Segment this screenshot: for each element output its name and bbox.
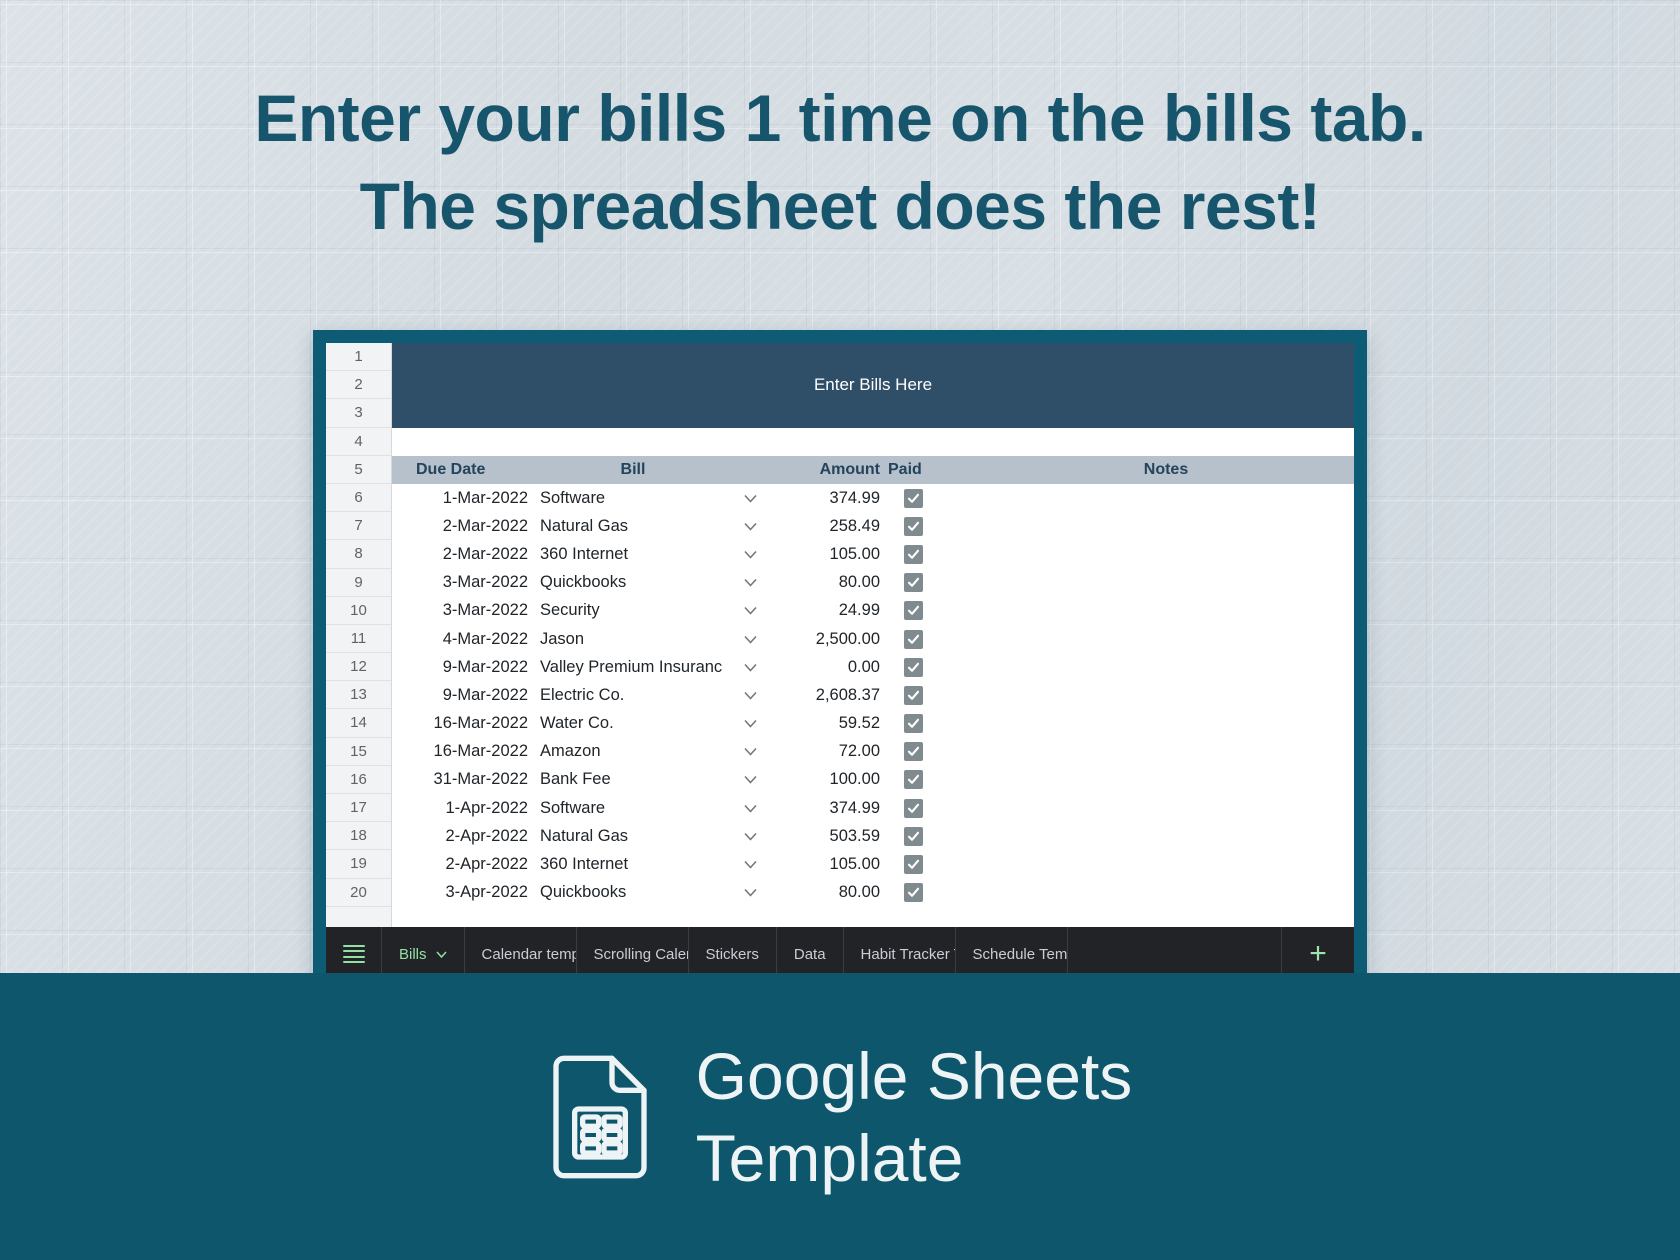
paid-checkbox[interactable] xyxy=(904,517,923,536)
cell-paid[interactable] xyxy=(884,883,942,902)
table-row[interactable]: 1-Apr-2022Software374.99 xyxy=(392,794,1354,822)
cell-paid[interactable] xyxy=(884,714,942,733)
cell-bill[interactable]: Quickbooks xyxy=(534,883,732,902)
headline-line-1: Enter your bills 1 time on the bills tab… xyxy=(254,81,1425,155)
sheet-tab-label: Calendar temp xyxy=(482,946,577,963)
cell-bill[interactable]: Jason xyxy=(534,630,732,649)
cell-paid[interactable] xyxy=(884,601,942,620)
paid-checkbox[interactable] xyxy=(904,686,923,705)
cell-amount[interactable]: 80.00 xyxy=(768,573,884,592)
bill-dropdown-caret-icon[interactable] xyxy=(732,719,768,728)
table-row[interactable]: 2-Apr-2022Natural Gas503.59 xyxy=(392,822,1354,850)
sheet-title-banner: Enter Bills Here xyxy=(392,343,1354,428)
cell-bill[interactable]: Natural Gas xyxy=(534,827,732,846)
cell-due-date[interactable]: 3-Mar-2022 xyxy=(392,573,534,592)
paid-checkbox[interactable] xyxy=(904,799,923,818)
cell-paid[interactable] xyxy=(884,855,942,874)
bill-dropdown-caret-icon[interactable] xyxy=(732,494,768,503)
bill-dropdown-caret-icon[interactable] xyxy=(732,804,768,813)
cell-bill[interactable]: Software xyxy=(534,799,732,818)
sheet-title-text: Enter Bills Here xyxy=(814,375,932,395)
paid-checkbox[interactable] xyxy=(904,827,923,846)
sheet-tab-label: Habit Tracker T xyxy=(861,946,956,963)
row-number[interactable]: 9 xyxy=(326,569,391,597)
cell-bill[interactable]: Amazon xyxy=(534,742,732,761)
bill-dropdown-caret-icon[interactable] xyxy=(732,578,768,587)
cell-amount[interactable]: 72.00 xyxy=(768,742,884,761)
row-number[interactable]: 2 xyxy=(326,371,391,399)
bill-dropdown-caret-icon[interactable] xyxy=(732,635,768,644)
cell-bill[interactable]: 360 Internet xyxy=(534,545,732,564)
sheet-tab-label: Scrolling Calen xyxy=(594,946,689,963)
table-row[interactable]: 31-Mar-2022Bank Fee100.00 xyxy=(392,766,1354,794)
cell-due-date[interactable]: 31-Mar-2022 xyxy=(392,770,534,789)
row-number[interactable]: 17 xyxy=(326,794,391,822)
paid-checkbox[interactable] xyxy=(904,601,923,620)
cell-amount[interactable]: 374.99 xyxy=(768,799,884,818)
cell-bill[interactable]: Software xyxy=(534,489,732,508)
bill-dropdown-caret-icon[interactable] xyxy=(732,550,768,559)
table-row[interactable]: 1-Mar-2022Software374.99 xyxy=(392,484,1354,512)
row-number[interactable]: 12 xyxy=(326,653,391,681)
cell-paid[interactable] xyxy=(884,658,942,677)
cell-paid[interactable] xyxy=(884,573,942,592)
table-row[interactable]: 4-Mar-2022Jason2,500.00 xyxy=(392,625,1354,653)
paid-checkbox[interactable] xyxy=(904,545,923,564)
spreadsheet-grid: 1234567891011121314151617181920 Enter Bi… xyxy=(326,343,1354,927)
cell-amount[interactable]: 2,500.00 xyxy=(768,630,884,649)
row-number[interactable]: 11 xyxy=(326,625,391,653)
cell-due-date[interactable]: 9-Mar-2022 xyxy=(392,686,534,705)
paid-checkbox[interactable] xyxy=(904,658,923,677)
cell-bill[interactable]: 360 Internet xyxy=(534,855,732,874)
paid-checkbox[interactable] xyxy=(904,742,923,761)
cell-due-date[interactable]: 1-Apr-2022 xyxy=(392,799,534,818)
row-number[interactable]: 13 xyxy=(326,681,391,709)
table-row[interactable]: 2-Mar-2022360 Internet105.00 xyxy=(392,540,1354,568)
cell-paid[interactable] xyxy=(884,517,942,536)
footer-brand-bar: Google Sheets Template xyxy=(0,973,1680,1260)
cell-paid[interactable] xyxy=(884,489,942,508)
blank-row-4 xyxy=(392,428,1354,456)
table-row[interactable]: 3-Mar-2022Security24.99 xyxy=(392,597,1354,625)
table-row[interactable]: 3-Apr-2022Quickbooks80.00 xyxy=(392,879,1354,907)
cell-due-date[interactable]: 3-Apr-2022 xyxy=(392,883,534,902)
cell-amount[interactable]: 24.99 xyxy=(768,601,884,620)
cell-amount[interactable]: 0.00 xyxy=(768,658,884,677)
row-number[interactable]: 3 xyxy=(326,399,391,427)
column-header-bill: Bill xyxy=(534,461,732,479)
bill-dropdown-caret-icon[interactable] xyxy=(732,663,768,672)
table-row[interactable]: 9-Mar-2022Valley Premium Insuranc0.00 xyxy=(392,653,1354,681)
bill-dropdown-caret-icon[interactable] xyxy=(732,691,768,700)
cell-paid[interactable] xyxy=(884,630,942,649)
paid-checkbox[interactable] xyxy=(904,630,923,649)
row-number[interactable]: 20 xyxy=(326,879,391,907)
cell-due-date[interactable]: 9-Mar-2022 xyxy=(392,658,534,677)
sheet-tab-label: Stickers xyxy=(706,946,759,963)
footer-line-2: Template xyxy=(696,1117,1133,1199)
cell-due-date[interactable]: 2-Mar-2022 xyxy=(392,517,534,536)
cell-bill[interactable]: Quickbooks xyxy=(534,573,732,592)
cell-bill[interactable]: Valley Premium Insuranc xyxy=(534,658,732,677)
cell-amount[interactable]: 105.00 xyxy=(768,545,884,564)
cell-bill[interactable]: Bank Fee xyxy=(534,770,732,789)
cell-due-date[interactable]: 16-Mar-2022 xyxy=(392,742,534,761)
headline-line-2: The spreadsheet does the rest! xyxy=(0,162,1680,250)
cell-paid[interactable] xyxy=(884,686,942,705)
cell-amount[interactable]: 258.49 xyxy=(768,517,884,536)
cell-paid[interactable] xyxy=(884,827,942,846)
table-header-row: Due Date Bill Amount Paid Notes xyxy=(392,456,1354,484)
table-body: 1-Mar-2022Software374.992-Mar-2022Natura… xyxy=(392,484,1354,907)
row-number-gutter[interactable]: 1234567891011121314151617181920 xyxy=(326,343,392,927)
row-number[interactable]: 19 xyxy=(326,850,391,878)
table-row[interactable]: 2-Mar-2022Natural Gas258.49 xyxy=(392,512,1354,540)
tab-dropdown-caret-icon xyxy=(436,951,447,958)
column-header-paid: Paid xyxy=(884,461,978,479)
cell-due-date[interactable]: 2-Apr-2022 xyxy=(392,855,534,874)
cell-paid[interactable] xyxy=(884,742,942,761)
row-number[interactable]: 8 xyxy=(326,540,391,568)
paid-checkbox[interactable] xyxy=(904,489,923,508)
page-headline: Enter your bills 1 time on the bills tab… xyxy=(0,74,1680,250)
bill-dropdown-caret-icon[interactable] xyxy=(732,888,768,897)
cell-paid[interactable] xyxy=(884,799,942,818)
cell-amount[interactable]: 100.00 xyxy=(768,770,884,789)
column-header-amount: Amount xyxy=(768,461,884,479)
column-header-due-date: Due Date xyxy=(392,461,534,479)
cell-bill[interactable]: Security xyxy=(534,601,732,620)
bill-dropdown-caret-icon[interactable] xyxy=(732,832,768,841)
spreadsheet-frame: 1234567891011121314151617181920 Enter Bi… xyxy=(313,330,1367,1003)
cell-due-date[interactable]: 3-Mar-2022 xyxy=(392,601,534,620)
cell-amount[interactable]: 59.52 xyxy=(768,714,884,733)
cell-due-date[interactable]: 16-Mar-2022 xyxy=(392,714,534,733)
grid-body: Enter Bills Here Due Date Bill Amount Pa… xyxy=(392,343,1354,927)
bill-dropdown-caret-icon[interactable] xyxy=(732,606,768,615)
paid-checkbox[interactable] xyxy=(904,855,923,874)
cell-bill[interactable]: Water Co. xyxy=(534,714,732,733)
paid-checkbox[interactable] xyxy=(904,573,923,592)
footer-brand-text: Google Sheets Template xyxy=(696,1035,1133,1199)
spreadsheet-window: 1234567891011121314151617181920 Enter Bi… xyxy=(326,343,1354,1003)
footer-line-1: Google Sheets xyxy=(696,1039,1133,1113)
row-number[interactable]: 14 xyxy=(326,709,391,737)
sheet-tab-label: Bills xyxy=(399,946,427,963)
cell-amount[interactable]: 2,608.37 xyxy=(768,686,884,705)
sheet-tab-label: Data xyxy=(794,946,826,963)
hamburger-icon xyxy=(343,942,365,967)
bill-dropdown-caret-icon[interactable] xyxy=(732,747,768,756)
cell-amount[interactable]: 80.00 xyxy=(768,883,884,902)
cell-due-date[interactable]: 2-Mar-2022 xyxy=(392,545,534,564)
row-number[interactable]: 18 xyxy=(326,822,391,850)
row-number[interactable]: 6 xyxy=(326,484,391,512)
table-row[interactable]: 2-Apr-2022360 Internet105.00 xyxy=(392,850,1354,878)
sheet-tab-label: Schedule Temp xyxy=(973,946,1068,963)
table-row[interactable]: 3-Mar-2022Quickbooks80.00 xyxy=(392,569,1354,597)
table-row[interactable]: 16-Mar-2022Amazon72.00 xyxy=(392,738,1354,766)
cell-paid[interactable] xyxy=(884,770,942,789)
cell-due-date[interactable]: 4-Mar-2022 xyxy=(392,630,534,649)
bill-dropdown-caret-icon[interactable] xyxy=(732,775,768,784)
cell-amount[interactable]: 503.59 xyxy=(768,827,884,846)
cell-due-date[interactable]: 2-Apr-2022 xyxy=(392,827,534,846)
row-number[interactable]: 4 xyxy=(326,428,391,456)
row-number[interactable]: 15 xyxy=(326,738,391,766)
column-header-notes: Notes xyxy=(978,461,1354,479)
paid-checkbox[interactable] xyxy=(904,770,923,789)
cell-amount[interactable]: 374.99 xyxy=(768,489,884,508)
row-number[interactable]: 10 xyxy=(326,597,391,625)
bill-dropdown-caret-icon[interactable] xyxy=(732,522,768,531)
google-sheets-document-icon xyxy=(548,1050,652,1184)
cell-paid[interactable] xyxy=(884,545,942,564)
cell-due-date[interactable]: 1-Mar-2022 xyxy=(392,489,534,508)
bill-dropdown-caret-icon[interactable] xyxy=(732,860,768,869)
table-row[interactable]: 9-Mar-2022Electric Co.2,608.37 xyxy=(392,681,1354,709)
cell-amount[interactable]: 105.00 xyxy=(768,855,884,874)
table-row[interactable]: 16-Mar-2022Water Co.59.52 xyxy=(392,709,1354,737)
row-number[interactable]: 1 xyxy=(326,343,391,371)
row-number[interactable]: 5 xyxy=(326,456,391,484)
row-number[interactable]: 16 xyxy=(326,766,391,794)
row-number[interactable]: 7 xyxy=(326,512,391,540)
cell-bill[interactable]: Natural Gas xyxy=(534,517,732,536)
cell-bill[interactable]: Electric Co. xyxy=(534,686,732,705)
paid-checkbox[interactable] xyxy=(904,883,923,902)
paid-checkbox[interactable] xyxy=(904,714,923,733)
